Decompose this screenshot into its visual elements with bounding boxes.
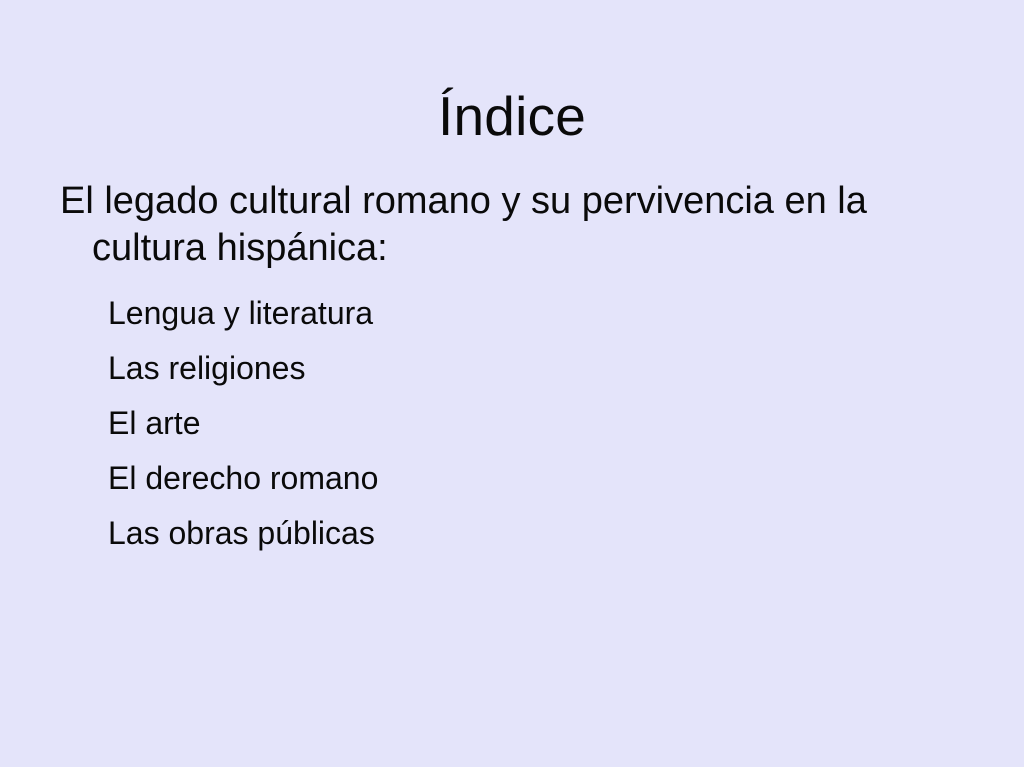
slide-content-body: El legado cultural romano y su pervivenc…: [60, 178, 960, 560]
list-item: Las religiones: [60, 340, 960, 395]
list-item: El derecho romano: [60, 450, 960, 505]
list-item: El arte: [60, 395, 960, 450]
list-item: Las obras públicas: [60, 505, 960, 560]
content-heading: El legado cultural romano y su pervivenc…: [60, 178, 960, 271]
list-item: Lengua y literatura: [60, 285, 960, 340]
page-title: Índice: [0, 85, 1024, 148]
presentation-slide: Índice El legado cultural romano y su pe…: [0, 0, 1024, 767]
topics-list: Lengua y literatura Las religiones El ar…: [60, 285, 960, 560]
